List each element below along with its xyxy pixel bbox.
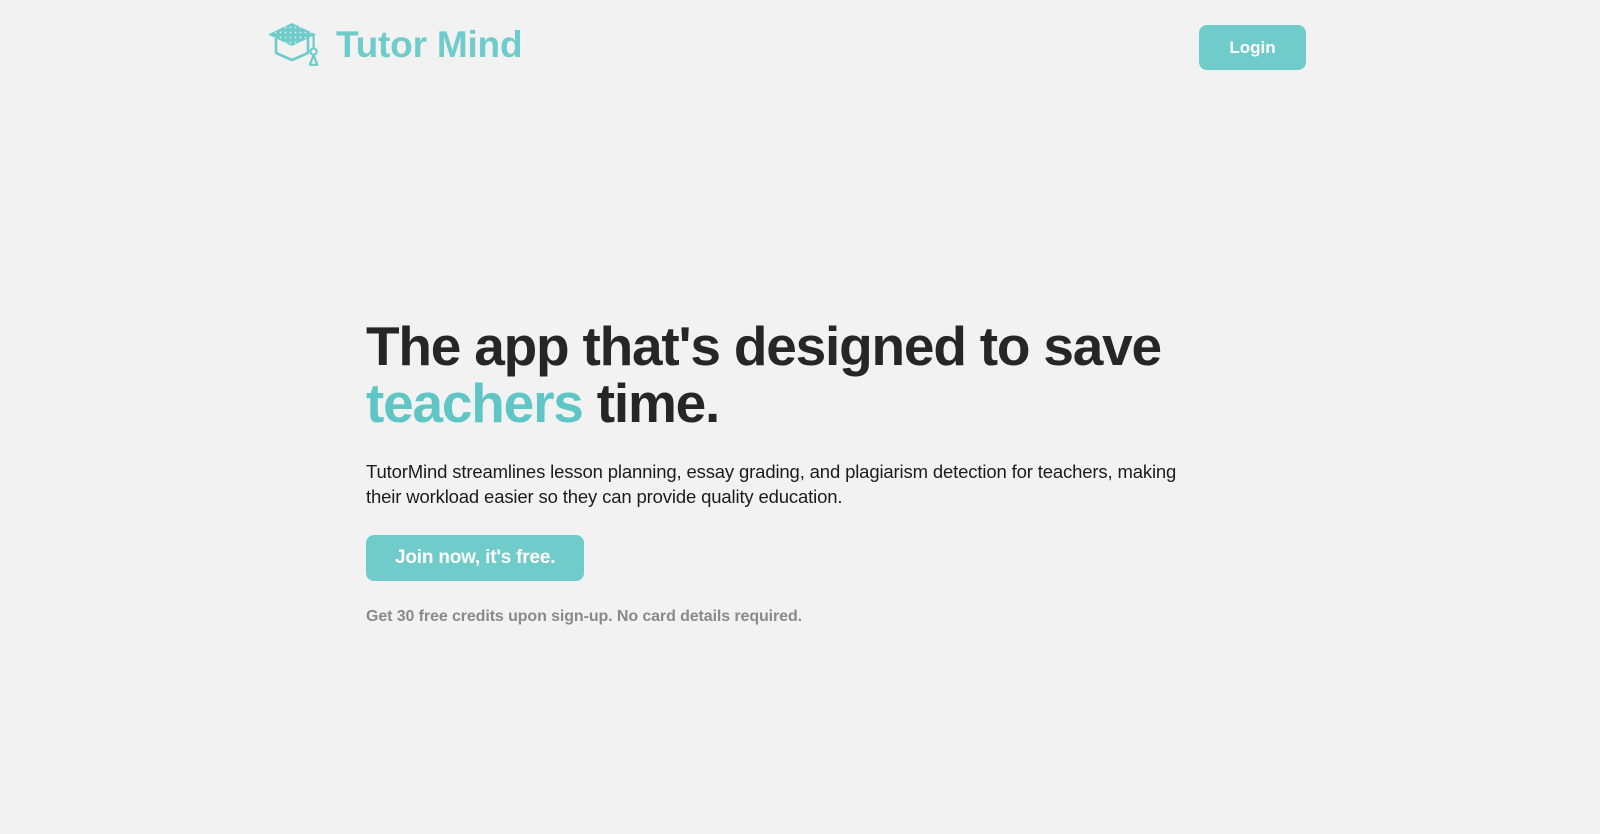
graduation-cap-icon (268, 20, 322, 68)
hero-subheading: TutorMind streamlines lesson planning, e… (366, 460, 1206, 510)
free-credits-note: Get 30 free credits upon sign-up. No car… (366, 608, 1226, 626)
hero-headline-line2-rest: time. (583, 372, 719, 434)
login-button[interactable]: Login (1199, 25, 1306, 70)
hero-headline: The app that's designed to save teachers… (366, 318, 1226, 431)
brand-name: Tutor Mind (336, 26, 522, 63)
brand-logo[interactable]: Tutor Mind (268, 20, 522, 68)
hero-section: The app that's designed to save teachers… (366, 318, 1226, 626)
join-now-button[interactable]: Join now, it's free. (366, 535, 584, 581)
hero-headline-line1: The app that's designed to save (366, 315, 1161, 377)
site-header: Tutor Mind Login (0, 0, 1600, 96)
hero-headline-accent: teachers (366, 372, 583, 434)
